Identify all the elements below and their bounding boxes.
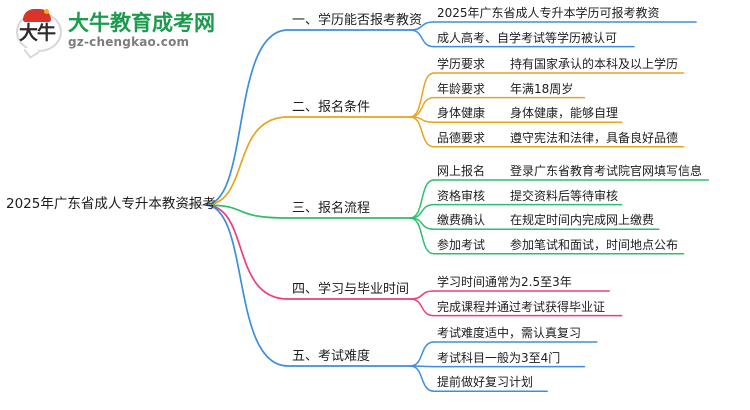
cap-button-shape bbox=[44, 9, 49, 14]
connector-path bbox=[410, 218, 434, 229]
logo-mark-icon: 大牛 bbox=[14, 8, 60, 52]
logo-mark-glyph: 大牛 bbox=[14, 18, 60, 48]
mindmap-detail-label-2-1[interactable]: 持有国家承认的本科及以上学历 bbox=[510, 58, 678, 70]
connector-path bbox=[410, 98, 434, 117]
mindmap-canvas: 大牛 大牛教育成考网 gz-chengkao.com 2025年广东省成人专升本… bbox=[0, 0, 750, 410]
mindmap-child-label-3-3[interactable]: 缴费确认 bbox=[437, 214, 485, 226]
mindmap-child-label-1-1[interactable]: 2025年广东省成人专升本学历可报考教资 bbox=[437, 7, 660, 19]
mindmap-child-label-2-4[interactable]: 品德要求 bbox=[437, 132, 485, 144]
mindmap-child-label-4-1[interactable]: 学习时间通常为2.5至3年 bbox=[437, 276, 572, 288]
mindmap-child-label-2-3[interactable]: 身体健康 bbox=[437, 107, 485, 119]
mindmap-child-label-2-1[interactable]: 学历要求 bbox=[437, 58, 485, 70]
mindmap-child-label-5-3[interactable]: 提前做好复习计划 bbox=[437, 376, 533, 388]
logo-text-block: 大牛教育成考网 gz-chengkao.com bbox=[68, 11, 215, 50]
mindmap-detail-label-2-2[interactable]: 年满18周岁 bbox=[510, 83, 573, 95]
mindmap-detail-label-2-4[interactable]: 遵守宪法和法律，具备良好品德 bbox=[510, 132, 678, 144]
connector-path bbox=[410, 180, 434, 218]
mindmap-child-label-4-2[interactable]: 完成课程并通过考试获得毕业证 bbox=[437, 301, 605, 313]
mindmap-detail-label-3-2[interactable]: 提交资料后等待审核 bbox=[510, 190, 618, 202]
mindmap-detail-label-3-1[interactable]: 登录广东省教育考试院官网填写信息 bbox=[510, 165, 702, 177]
mindmap-detail-label-3-3[interactable]: 在规定时间内完成网上缴费 bbox=[510, 214, 654, 226]
connector-path bbox=[205, 30, 410, 205]
logo-subtitle: gz-chengkao.com bbox=[68, 35, 215, 50]
mindmap-child-label-5-2[interactable]: 考试科目一般为3至4门 bbox=[437, 352, 560, 364]
connector-path bbox=[410, 117, 434, 122]
mindmap-branch-label-5[interactable]: 五、考试难度 bbox=[292, 350, 370, 363]
mindmap-branch-label-2[interactable]: 二、报名条件 bbox=[292, 101, 370, 114]
connector-path bbox=[410, 299, 434, 316]
connector-path bbox=[410, 73, 434, 117]
mindmap-child-label-5-1[interactable]: 考试难度适中，需认真复习 bbox=[437, 327, 581, 339]
connector-path bbox=[410, 30, 434, 47]
mindmap-detail-label-3-4[interactable]: 参加笔试和面试，时间地点公布 bbox=[510, 239, 678, 251]
connector-path bbox=[410, 342, 434, 366]
connector-path bbox=[410, 366, 434, 367]
mindmap-child-label-3-1[interactable]: 网上报名 bbox=[437, 165, 485, 177]
mindmap-child-label-2-2[interactable]: 年龄要求 bbox=[437, 83, 485, 95]
mindmap-child-label-3-4[interactable]: 参加考试 bbox=[437, 239, 485, 251]
connector-path bbox=[410, 205, 434, 218]
connector-path bbox=[205, 117, 410, 205]
connector-path bbox=[410, 366, 434, 391]
mindmap-branch-label-4[interactable]: 四、学习与毕业时间 bbox=[292, 283, 409, 296]
mindmap-branch-label-1[interactable]: 一、学历能否报考教资 bbox=[292, 14, 422, 27]
mindmap-child-label-1-2[interactable]: 成人高考、自学考试等学历被认可 bbox=[437, 32, 617, 44]
mindmap-root-node[interactable]: 2025年广东省成人专升本教资报考 bbox=[6, 198, 216, 212]
mindmap-branch-label-3[interactable]: 三、报名流程 bbox=[292, 202, 370, 215]
logo-title: 大牛教育成考网 bbox=[68, 11, 215, 35]
mindmap-detail-label-2-3[interactable]: 身体健康，能够自理 bbox=[510, 107, 618, 119]
connector-path bbox=[410, 218, 434, 254]
connector-path bbox=[410, 117, 434, 147]
site-logo: 大牛 大牛教育成考网 gz-chengkao.com bbox=[14, 6, 244, 54]
mindmap-child-label-3-2[interactable]: 资格审核 bbox=[437, 190, 485, 202]
connector-path bbox=[410, 291, 434, 299]
